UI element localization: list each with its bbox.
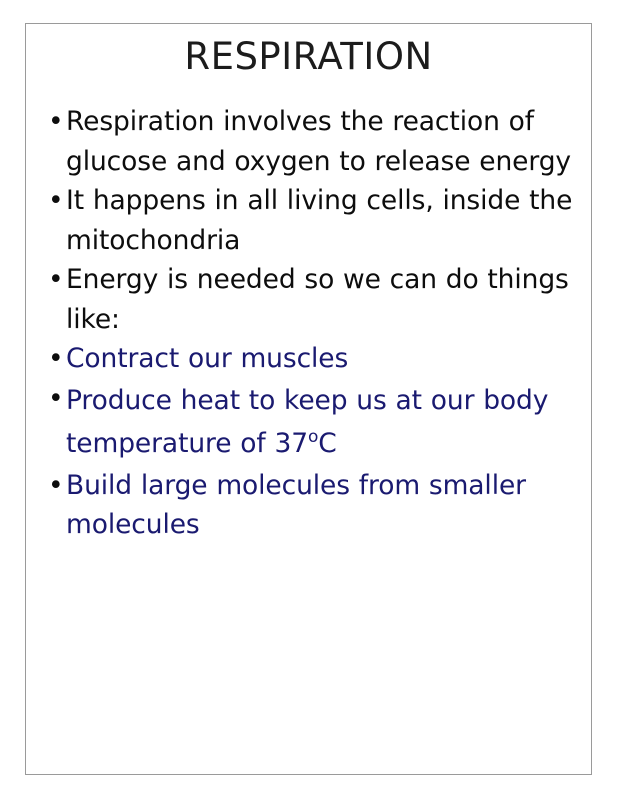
list-item: • Respiration involves the reaction of g…: [46, 102, 578, 181]
list-item-text: Respiration involves the reaction of glu…: [66, 102, 578, 181]
slide-frame: RESPIRATION • Respiration involves the r…: [25, 23, 592, 775]
bullet-point-icon: •: [48, 102, 64, 142]
list-item-text: Energy is needed so we can do things lik…: [66, 260, 578, 339]
list-item: • Energy is needed so we can do things l…: [46, 260, 578, 339]
temperature-unit: C: [318, 428, 336, 459]
page-title: RESPIRATION: [26, 35, 591, 79]
bullet-point-icon: •: [48, 260, 64, 300]
list-item: • Contract our muscles: [46, 339, 578, 379]
list-item: • Produce heat to keep us at our body te…: [46, 379, 578, 466]
bullet-point-icon: •: [48, 466, 64, 506]
temperature-text-before: Produce heat to keep us at our body temp…: [66, 385, 548, 460]
list-item-text: Build large molecules from smaller molec…: [66, 466, 578, 545]
bullet-point-icon: •: [48, 379, 64, 419]
list-item-text: Produce heat to keep us at our body temp…: [66, 379, 578, 466]
bullet-point-icon: •: [48, 181, 64, 221]
list-item: • Build large molecules from smaller mol…: [46, 466, 578, 545]
list-item-text: Contract our muscles: [66, 339, 578, 379]
degree-superscript: o: [308, 427, 318, 447]
bullet-list: • Respiration involves the reaction of g…: [46, 102, 578, 545]
list-item-text: It happens in all living cells, inside t…: [66, 181, 578, 260]
list-item: • It happens in all living cells, inside…: [46, 181, 578, 260]
bullet-point-icon: •: [48, 339, 64, 379]
